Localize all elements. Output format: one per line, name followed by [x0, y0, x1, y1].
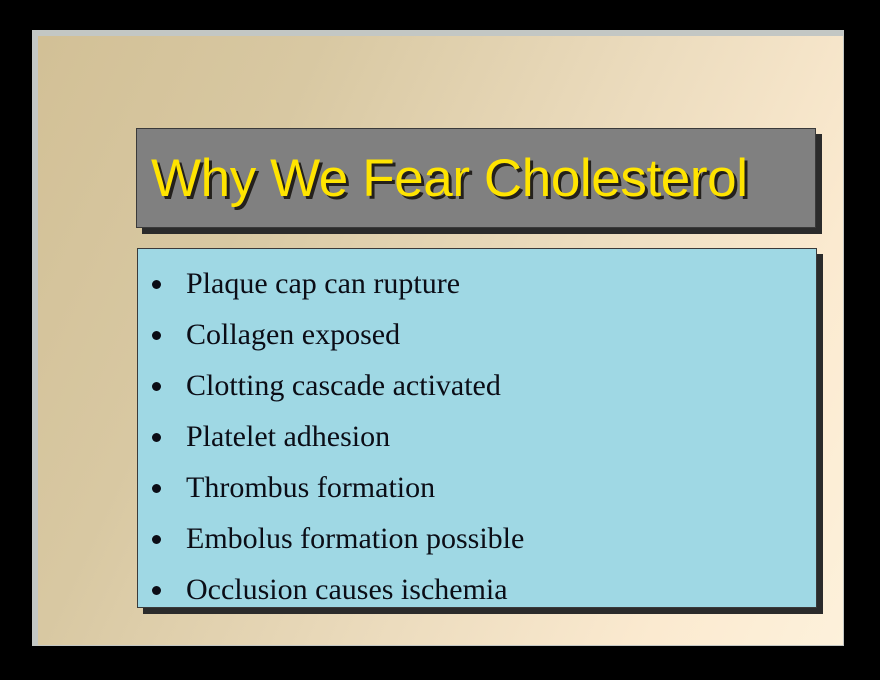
bullet-dot-icon	[152, 382, 161, 391]
bullet-dot-icon	[152, 535, 161, 544]
list-item: Clotting cascade activated	[148, 360, 806, 411]
bullet-dot-icon	[152, 484, 161, 493]
slide-content-box[interactable]: Plaque cap can rupture Collagen exposed …	[137, 248, 817, 608]
list-item: Plaque cap can rupture	[148, 258, 806, 309]
bullet-text: Clotting cascade activated	[186, 369, 501, 402]
bullet-dot-icon	[152, 280, 161, 289]
bullet-dot-icon	[152, 586, 161, 595]
bullet-dot-icon	[152, 433, 161, 442]
list-item: Embolus formation possible	[148, 513, 806, 564]
bullet-text: Collagen exposed	[186, 318, 400, 351]
bullet-text: Embolus formation possible	[186, 522, 524, 555]
bullet-text: Platelet adhesion	[186, 420, 390, 453]
list-item: Collagen exposed	[148, 309, 806, 360]
bullet-text: Thrombus formation	[186, 471, 435, 504]
list-item: Thrombus formation	[148, 462, 806, 513]
presentation-viewport: Why We Fear Cholesterol Plaque cap can r…	[0, 0, 880, 680]
slide-title: Why We Fear Cholesterol	[151, 152, 748, 205]
slide-title-box[interactable]: Why We Fear Cholesterol	[136, 128, 816, 228]
bullet-text: Plaque cap can rupture	[186, 267, 460, 300]
bullet-text: Occlusion causes ischemia	[186, 573, 508, 606]
list-item: Platelet adhesion	[148, 411, 806, 462]
list-item: Occlusion causes ischemia	[148, 564, 806, 615]
slide-canvas: Why We Fear Cholesterol Plaque cap can r…	[38, 36, 843, 645]
bullet-list: Plaque cap can rupture Collagen exposed …	[148, 258, 806, 615]
bullet-dot-icon	[152, 331, 161, 340]
